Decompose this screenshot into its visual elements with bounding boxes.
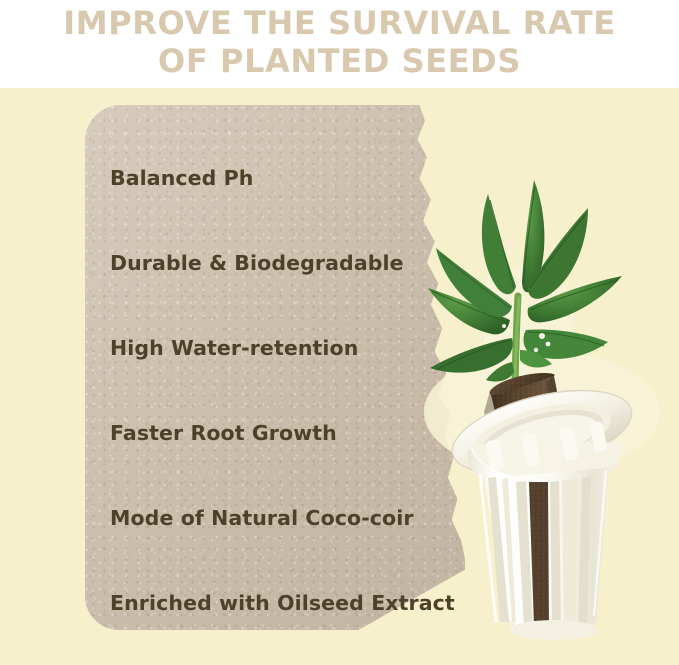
feature-label: Faster Root Growth [110, 421, 337, 445]
feature-label: Balanced Ph [110, 166, 254, 190]
header-banner: IMPROVE THE SURVIVAL RATE OF PLANTED SEE… [0, 0, 679, 88]
content-canvas: Balanced Ph Durable & Biodegradable High… [0, 88, 679, 665]
product-photo [392, 88, 679, 642]
feature-label: Mode of Natural Coco-coir [110, 506, 414, 530]
feature-label: Durable & Biodegradable [110, 251, 404, 275]
basil-seedling [428, 180, 622, 382]
page-title-line-1: IMPROVE THE SURVIVAL RATE [0, 4, 679, 42]
page-title-line-2: OF PLANTED SEEDS [0, 42, 679, 80]
infographic-page: IMPROVE THE SURVIVAL RATE OF PLANTED SEE… [0, 0, 679, 665]
feature-label: High Water-retention [110, 336, 358, 360]
